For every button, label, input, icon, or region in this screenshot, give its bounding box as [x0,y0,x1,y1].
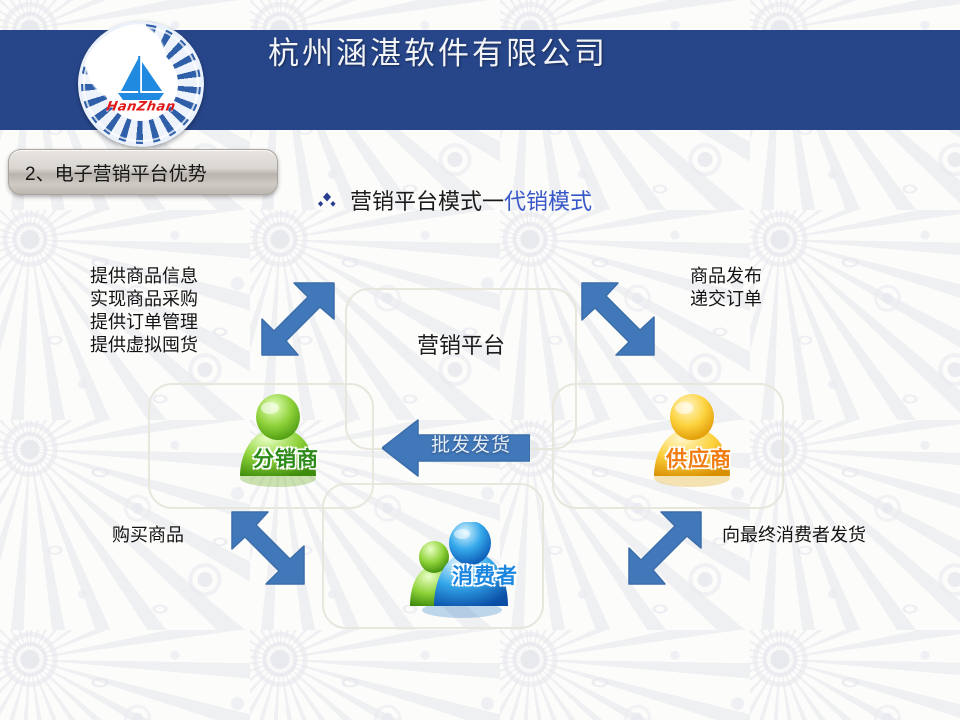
sailboat-icon [112,55,170,103]
headline-text-prefix: 营销平台模式一 [350,189,504,214]
arrow-left-icon [382,418,530,478]
double-arrow-diagonal-ne-sw-icon [246,279,338,367]
note-right-bottom: 向最终消费者发货 [722,524,866,547]
note-right-top: 商品发布递交订单 [690,265,762,311]
headline-text-highlight: 代销模式 [504,189,592,214]
section-tab-label: 2、电子营销平台优势 [9,159,207,186]
section-tab[interactable]: 2、电子营销平台优势 [8,149,278,195]
double-arrow-diagonal-nw-se-icon [578,279,670,367]
person-green-icon [218,392,338,488]
slide-canvas: 杭州涵湛软件有限公司 HanZhan 2、电子营销平台优势 营销平台模式一代销模… [0,0,960,720]
platform-label: 营销平台 [347,328,575,360]
consumer-caption: 消费者 [452,560,518,590]
company-logo: HanZhan [78,21,204,147]
note-left-bottom: 购买商品 [112,524,184,547]
company-title: 杭州涵湛软件有限公司 [268,28,608,73]
note-left-top: 提供商品信息实现商品采购提供订单管理提供虚拟囤货 [90,265,198,357]
double-arrow-diagonal-nw-se-icon [228,508,320,596]
headline-row: 营销平台模式一代销模式 [318,184,592,216]
person-orange-icon [632,392,752,488]
supplier-caption: 供应商 [666,443,732,473]
logo-wordmark: HanZhan [105,99,177,114]
headline-text: 营销平台模式一代销模式 [350,184,592,216]
diamond-bullet-icon [318,191,336,209]
double-arrow-diagonal-ne-sw-icon [613,508,705,596]
distributor-caption: 分销商 [253,443,319,473]
